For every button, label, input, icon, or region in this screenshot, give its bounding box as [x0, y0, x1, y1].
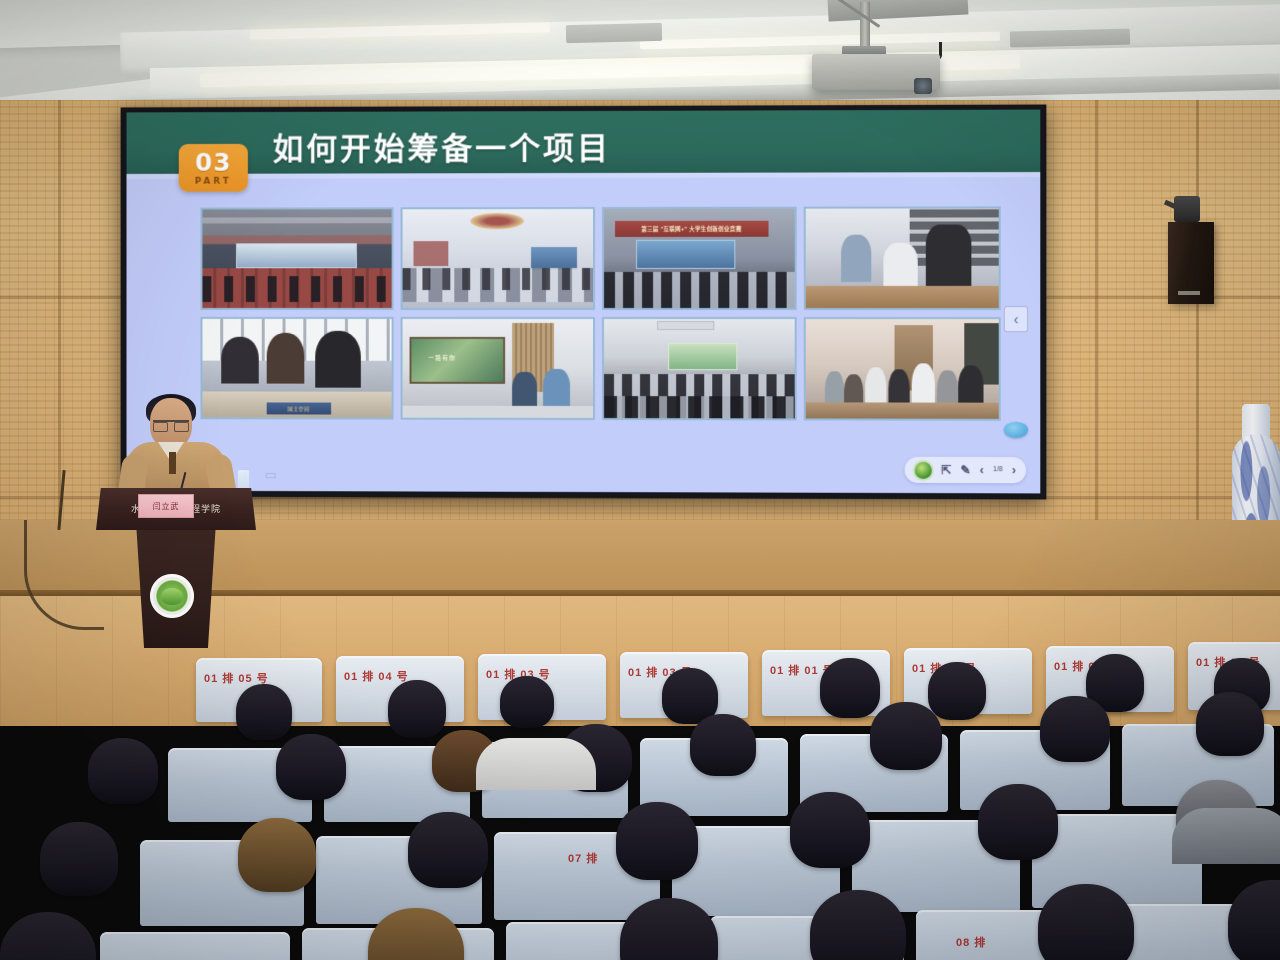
slide-photo-4[interactable] [804, 206, 1001, 310]
slide-status-badge[interactable] [1004, 422, 1028, 438]
photo-5-nameplate-text: 国土空间 [288, 405, 310, 412]
audience-head [238, 818, 316, 892]
presenter-nameplate-text: 闫立武 [153, 501, 180, 512]
slide-photo-grid: 第三届 "互联网+" 大学生创新创业竞赛 [200, 206, 1000, 420]
audience-head [928, 662, 986, 720]
speaker-cabinet [1168, 222, 1214, 304]
slide-photo-3[interactable]: 第三届 "互联网+" 大学生创新创业竞赛 [602, 207, 797, 310]
photo-7-content [604, 319, 795, 418]
audience-head [870, 702, 942, 770]
projector-lens [914, 78, 932, 94]
presenter-nameplate: 闫立武 [138, 494, 194, 518]
audience-head [0, 912, 96, 960]
slide-title: 如何开始筹备一个项目 [273, 123, 611, 169]
photo-3-content: 第三届 "互联网+" 大学生创新创业竞赛 [604, 209, 795, 308]
audience-shoulder [1172, 808, 1280, 864]
photo-3-banner: 第三届 "互联网+" 大学生创新创业竞赛 [615, 221, 768, 237]
seat-label: 08 排 [956, 934, 986, 950]
page-indicator: 1/8 [993, 466, 1003, 473]
audience-shoulder [476, 738, 596, 790]
audience-head [276, 734, 346, 800]
audience-head [236, 684, 292, 740]
photo-1-content [202, 209, 391, 308]
photo-8-content [806, 319, 999, 419]
audience-head [40, 822, 118, 896]
photo-5-nameplate: 国土空间 [267, 403, 331, 415]
photo-4-content [806, 208, 999, 308]
audience-head [690, 714, 756, 776]
speaker-bracket [1174, 196, 1200, 222]
university-emblem-icon [150, 574, 194, 618]
wall-speaker [1168, 212, 1214, 304]
audience-head [1228, 880, 1280, 960]
ceiling-vent-1 [566, 23, 662, 43]
audience-head [88, 738, 158, 804]
glasses-icon [153, 420, 189, 428]
seat-label: 07 排 [568, 850, 598, 866]
slide-photo-2[interactable] [400, 207, 594, 310]
ceiling-projector [812, 40, 940, 90]
audience-head [1196, 692, 1264, 756]
ceiling [0, 0, 1280, 112]
slide-photo-6[interactable]: 一路有你 [400, 317, 594, 420]
brush-icon[interactable]: ✎ [960, 464, 970, 476]
lecture-hall-scene: 03 PART 如何开始筹备一个项目 [0, 0, 1280, 960]
audience-head [978, 784, 1058, 860]
speaker-logo [1178, 291, 1200, 295]
audience-head [1040, 696, 1110, 762]
audience-head [388, 680, 446, 738]
projection-screen-frame: 03 PART 如何开始筹备一个项目 [121, 105, 1047, 500]
slide-part-badge: 03 PART [179, 144, 248, 192]
vase-neck [1242, 404, 1270, 438]
prev-slide-button[interactable]: ‹ [980, 464, 984, 476]
emblem-leaf-shape [161, 588, 183, 605]
photo-6-content: 一路有你 [402, 319, 592, 418]
mode-icon-secondary[interactable]: ▭ [265, 467, 277, 483]
slide-photo-8[interactable] [804, 317, 1001, 421]
projector-body [812, 54, 940, 90]
photo-6-screen-text: 一路有你 [428, 353, 456, 362]
projected-slide[interactable]: 03 PART 如何开始筹备一个项目 [127, 110, 1041, 494]
audience-head [1038, 884, 1134, 960]
slide-photo-1[interactable] [200, 207, 393, 310]
slide-photo-5[interactable]: 国土空间 [200, 317, 393, 420]
audience-head [820, 658, 880, 718]
slide-toolbar[interactable]: ⇱ ✎ ‹ 1/8 › [905, 457, 1026, 483]
audience-head [616, 802, 698, 880]
presenter-tie [169, 452, 176, 474]
slide-photo-7[interactable] [602, 317, 797, 420]
photo-3-banner-text: 第三届 "互联网+" 大学生创新创业竞赛 [641, 225, 741, 233]
chevron-left-icon[interactable]: ‹ [1004, 306, 1028, 332]
next-slide-button[interactable]: › [1012, 464, 1016, 476]
audience-seating: 01 排 05 号 01 排 04 号 01 排 03 号 01 排 03 号 … [0, 640, 1280, 960]
photo-6-led-screen: 一路有你 [410, 337, 505, 385]
podium: 水利与土木工程学院 闫立武 [96, 488, 256, 648]
slide-part-word: PART [195, 176, 232, 186]
seat[interactable] [100, 932, 290, 960]
audience-head [408, 812, 488, 888]
audience-head [790, 792, 870, 868]
seat-label: 01 排 04 号 [344, 668, 409, 684]
photo-2-content [402, 209, 592, 308]
audience-head [500, 676, 554, 728]
ceiling-vent-2 [1010, 29, 1130, 48]
wps-logo-icon[interactable] [915, 461, 932, 478]
share-icon[interactable]: ⇱ [941, 464, 951, 476]
slide-part-number: 03 [195, 149, 231, 174]
photo-5-content: 国土空间 [202, 319, 391, 418]
